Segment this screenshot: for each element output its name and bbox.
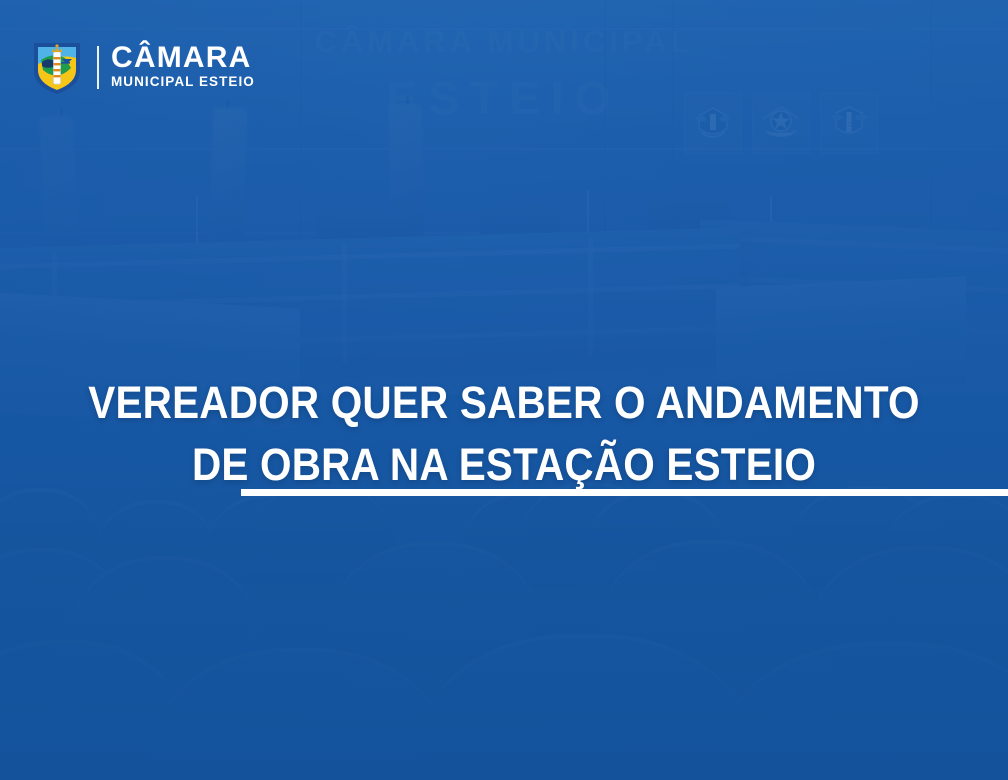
headline-block: VEREADOR QUER SABER O ANDAMENTO DE OBRA …: [0, 372, 1008, 496]
news-headline: VEREADOR QUER SABER O ANDAMENTO DE OBRA …: [50, 372, 957, 496]
brand-logo[interactable]: CÂMARA MUNICIPAL ESTEIO: [31, 38, 255, 96]
banner-content: CÂMARA MUNICIPAL ESTEIO VEREADOR QUER SA…: [0, 0, 1008, 780]
logo-divider: [97, 46, 99, 89]
news-banner: CÂMARA MUNICIPAL ESTEIO: [0, 0, 1008, 780]
municipal-shield-crest-icon: [31, 38, 83, 96]
logo-name-secondary: MUNICIPAL ESTEIO: [111, 75, 255, 90]
logo-name-primary: CÂMARA: [111, 44, 255, 73]
headline-underline-rule: [241, 489, 1008, 496]
logo-wordmark: CÂMARA MUNICIPAL ESTEIO: [111, 44, 255, 90]
